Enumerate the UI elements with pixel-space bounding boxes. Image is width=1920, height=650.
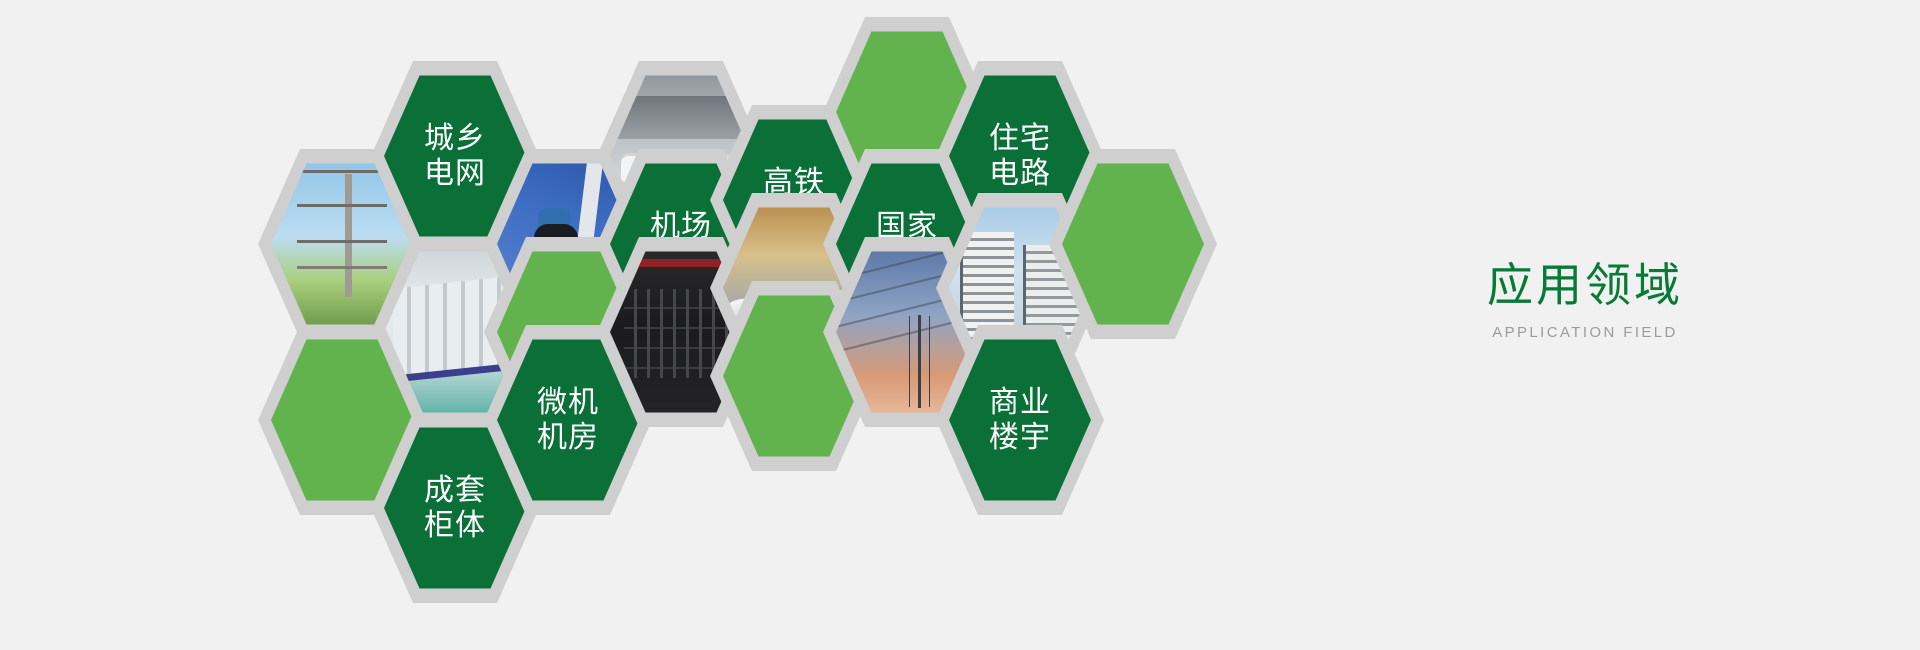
hex-face: 商业 楼宇 [949, 337, 1091, 503]
hex-face [1062, 161, 1204, 327]
hex-label: 商业 楼宇 [989, 385, 1051, 456]
hex-label: 微机 机房 [537, 385, 599, 456]
page-subtitle: APPLICATION FIELD [1395, 324, 1775, 341]
application-field-banner: 城乡 电网成套 柜体微机 机房机场 电路高铁 电路国家 电网住宅 电路商业 楼宇… [0, 0, 1920, 650]
page-title: 应用领域 [1395, 262, 1775, 308]
hex-label: 城乡 电网 [424, 121, 486, 192]
hex-label: 成套 柜体 [424, 473, 486, 544]
hex-label: 住宅 电路 [989, 121, 1051, 192]
title-block: 应用领域 APPLICATION FIELD [1395, 262, 1775, 341]
